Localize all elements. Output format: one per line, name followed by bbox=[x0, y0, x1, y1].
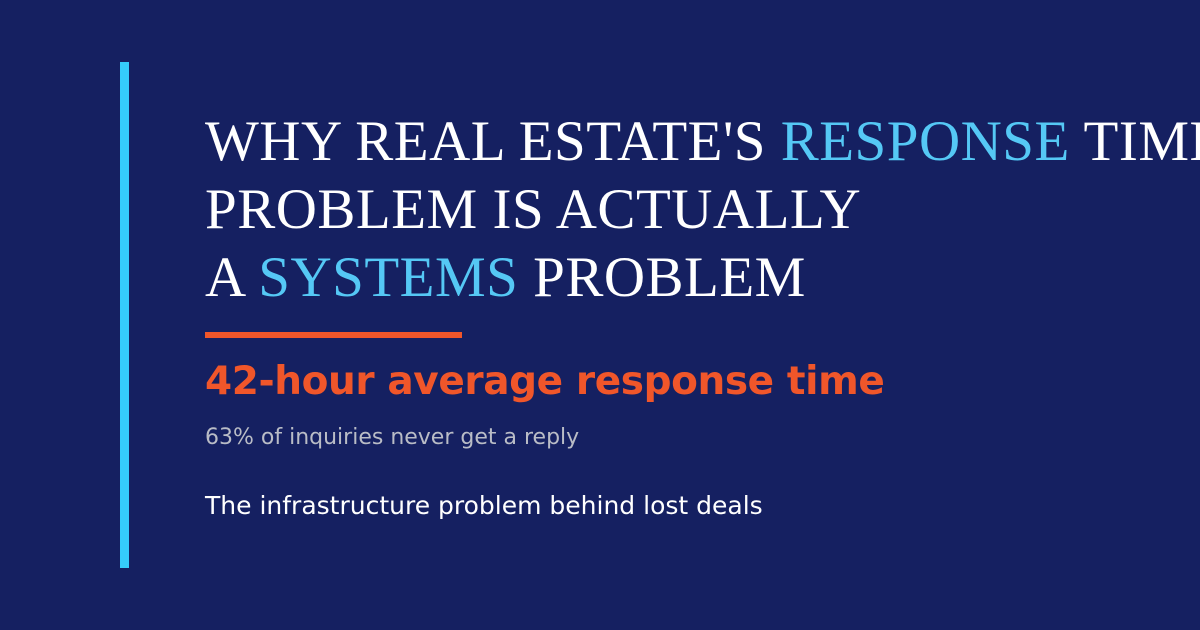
headline-line-1: WHY REAL ESTATE'S RESPONSE TIME bbox=[205, 108, 1085, 176]
headline-line-3-text-before: A bbox=[205, 246, 258, 309]
headline-line-3-text-after: PROBLEM bbox=[518, 246, 805, 309]
headline-line-1-text-before: WHY REAL ESTATE'S bbox=[205, 110, 781, 173]
headline-accent-systems: SYSTEMS bbox=[258, 246, 518, 309]
card-content: WHY REAL ESTATE'S RESPONSE TIME PROBLEM … bbox=[205, 0, 1145, 630]
headline-line-2: PROBLEM IS ACTUALLY bbox=[205, 176, 1085, 244]
left-accent-bar bbox=[120, 62, 129, 568]
stat-secondary-label: 63% of inquiries never get a reply bbox=[205, 423, 579, 453]
orange-divider bbox=[205, 332, 462, 338]
social-share-card: WHY REAL ESTATE'S RESPONSE TIME PROBLEM … bbox=[0, 0, 1200, 630]
headline-accent-response: RESPONSE bbox=[781, 110, 1070, 173]
page-title: WHY REAL ESTATE'S RESPONSE TIME PROBLEM … bbox=[205, 108, 1085, 312]
footer-tagline: The infrastructure problem behind lost d… bbox=[205, 489, 763, 523]
headline-line-3: A SYSTEMS PROBLEM bbox=[205, 244, 1085, 312]
headline-line-1-text-after: TIME bbox=[1070, 110, 1200, 173]
stat-primary-label: 42-hour average response time bbox=[205, 358, 884, 406]
